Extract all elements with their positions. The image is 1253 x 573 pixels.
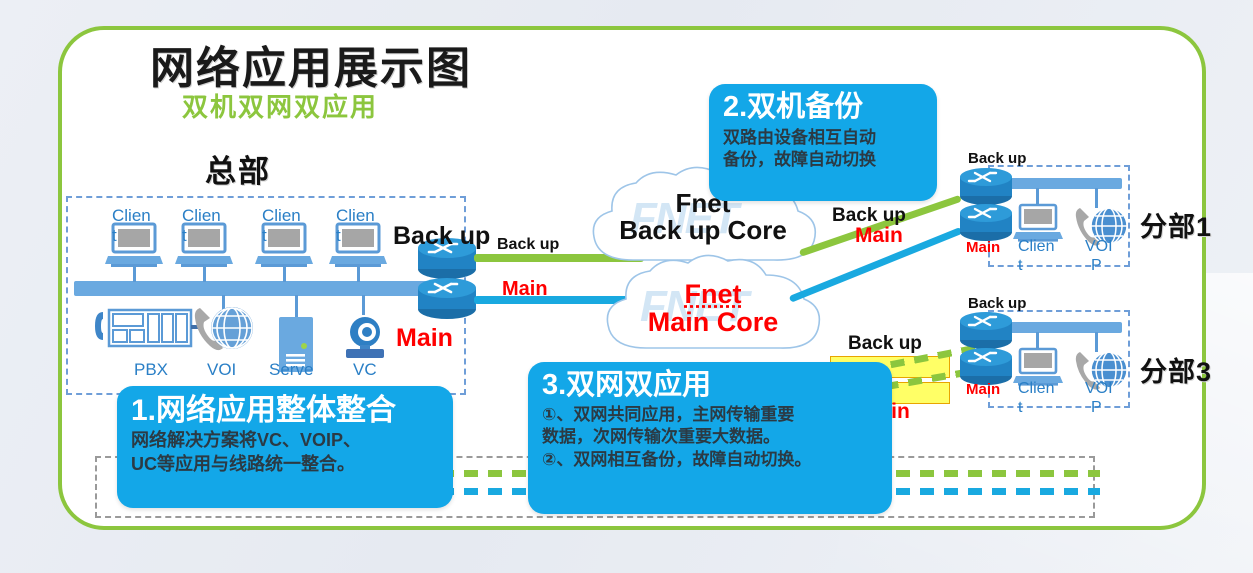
branch3-router-backup[interactable] (958, 310, 1014, 350)
hq-client-2-label-line1: Clien (182, 206, 221, 226)
branch3-voip-label-line2: P (1091, 399, 1102, 417)
cloud-main-core-label: Fnet Main Core (594, 280, 832, 337)
branch3-bus (998, 322, 1122, 333)
branch3-backup-label: Back up (968, 295, 1026, 312)
diagram-canvas: 网络应用展示图 双机双网双应用 总部 (0, 0, 1253, 573)
branch3-voip-label-line1: VOI (1085, 380, 1113, 398)
pbx-label: PBX (134, 360, 168, 380)
hq-client-1-label-line2: t (112, 226, 117, 246)
client-stub-1 (133, 266, 136, 282)
callout-3[interactable]: 3.双网双应用 ①、双网共同应用，主网传输重要 数据，次网传输次重要大数据。 ②… (528, 362, 892, 514)
branch1-client-label-line1: Clien (1018, 238, 1054, 256)
hq-router-main[interactable] (416, 276, 478, 320)
vc-icon[interactable] (341, 313, 389, 361)
branch1-voip-label-line1: VOI (1085, 238, 1113, 256)
callout-1[interactable]: 1.网络应用整体整合 网络解决方案将VC、VOIP、 UC等应用与线路统一整合。 (117, 386, 453, 508)
vc-label: VC (353, 360, 377, 380)
hq-router-main-label: Main (396, 324, 453, 353)
hq-client-1-label-line1: Clien (112, 206, 151, 226)
client-stub-2 (203, 266, 206, 282)
branch1-bus (998, 178, 1122, 189)
branch1-main-label: Main (966, 239, 1000, 256)
callout-3-body-line-1: ①、双网共同应用，主网传输重要 (542, 404, 878, 426)
link-branch1-main-label: Main (855, 224, 903, 248)
branch1-client-icon[interactable] (1013, 203, 1063, 243)
callout-1-title: 1.网络应用整体整合 (131, 394, 439, 427)
branch3-client-label-line2: t (1018, 399, 1022, 417)
branch3-router-main[interactable] (958, 346, 1014, 386)
client-stub-3 (283, 266, 286, 282)
branch3-main-label: Main (966, 381, 1000, 398)
branch3-name: 分部3 (1140, 350, 1212, 389)
headquarters-bus (74, 281, 466, 296)
link-branch3-backup-label: Back up (848, 333, 922, 355)
hq-router-backup-label: Back up (393, 222, 490, 251)
link-hq-main-label: Main (502, 278, 548, 301)
headquarters-title: 总部 (205, 146, 271, 191)
branch1-router-backup[interactable] (958, 166, 1014, 206)
branch3-client-label-line1: Clien (1018, 380, 1054, 398)
branch1-backup-label: Back up (968, 150, 1026, 167)
callout-2-title: 2.双机备份 (723, 92, 923, 124)
cloud-backup-core-line2: Back up Core (578, 217, 828, 244)
hq-client-4-label-line1: Clien (336, 206, 375, 226)
callout-1-body: 网络解决方案将VC、VOIP、 UC等应用与线路统一整合。 (131, 429, 439, 477)
link-hq-backup-label: Back up (497, 236, 559, 254)
hq-client-3-label-line1: Clien (262, 206, 301, 226)
callout-1-body-line-1: 网络解决方案将VC、VOIP、 (131, 429, 439, 453)
voip-icon[interactable] (192, 304, 254, 354)
hq-client-4-label-line2: t (336, 226, 341, 246)
callout-2-body-line-2: 备份，故障自动切换 (723, 149, 923, 171)
callout-3-body-line-2: 数据，次网传输次重要大数据。 (542, 426, 878, 448)
server-label: Serve (269, 360, 313, 380)
callout-3-body-line-3: ②、双网相互备份，故障自动切换。 (542, 449, 878, 471)
hq-client-2-label-line2: t (182, 226, 187, 246)
callout-2[interactable]: 2.双机备份 双路由设备相互自动 备份，故障自动切换 (709, 84, 937, 201)
branch1-voip-label-line2: P (1091, 257, 1102, 275)
branch1-name: 分部1 (1140, 205, 1212, 244)
callout-2-body-line-1: 双路由设备相互自动 (723, 127, 923, 149)
pbx-icon[interactable] (93, 306, 199, 350)
callout-2-body: 双路由设备相互自动 备份，故障自动切换 (723, 127, 923, 172)
cloud-main-core-line2: Main Core (594, 308, 832, 336)
callout-3-body: ①、双网共同应用，主网传输重要 数据，次网传输次重要大数据。 ②、双网相互备份，… (542, 404, 878, 471)
voip-label: VOI (207, 360, 236, 380)
hq-client-3-label-line2: t (262, 226, 267, 246)
page-subtitle: 双机双网双应用 (182, 87, 378, 124)
branch1-router-main[interactable] (958, 202, 1014, 242)
callout-1-body-line-2: UC等应用与线路统一整合。 (131, 453, 439, 477)
branch1-client-label-line2: t (1018, 257, 1022, 275)
vc-stub (362, 295, 365, 315)
callout-3-title: 3.双网双应用 (542, 370, 878, 402)
client-stub-4 (357, 266, 360, 282)
